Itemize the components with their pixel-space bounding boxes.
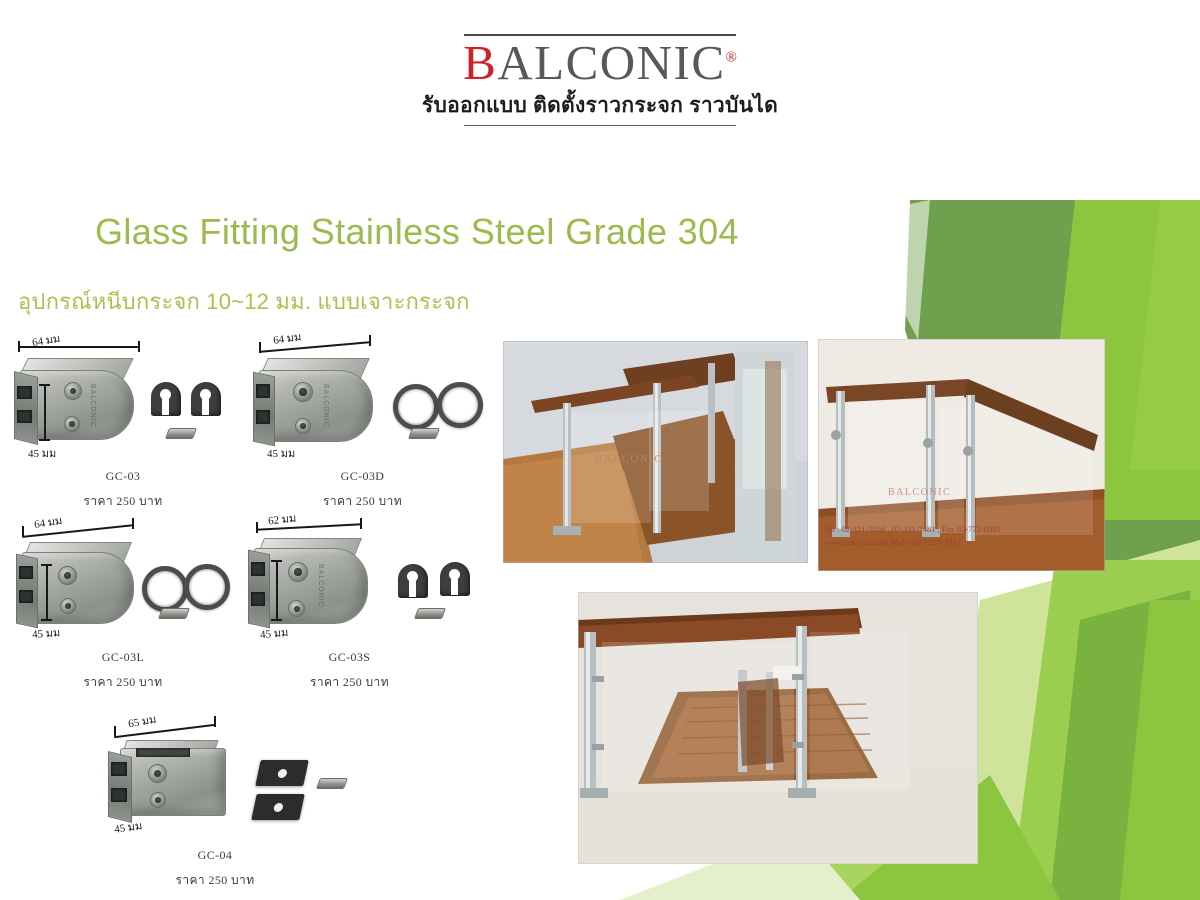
dimension-width-label: 65 มม <box>127 710 158 733</box>
dim-cap-left <box>259 342 261 353</box>
dim-cap-top <box>39 384 50 386</box>
screw-pin <box>158 608 190 619</box>
photo-watermark-2: BALCONIC <box>888 487 951 498</box>
gasket-half-round-1 <box>398 564 428 598</box>
product-card-gc-03l[interactable]: 64 มม 45 มม GC-03L ราคา 250 บาท <box>8 518 238 692</box>
product-price-gc-03l: ราคา 250 บาท <box>8 673 238 692</box>
dim-cap-left <box>22 526 24 537</box>
photo-stairwell-balustrade[interactable] <box>578 592 978 864</box>
gasket-half-round-2 <box>191 382 221 416</box>
clamp-bolt-top <box>58 566 77 585</box>
clamp-bolt-top <box>64 382 82 400</box>
clamp-bolt-bottom <box>64 416 80 432</box>
clamp-slot-top <box>19 566 33 579</box>
dim-cap-right <box>132 518 134 529</box>
photo-stair-glass-railing[interactable]: BALCONIC <box>503 341 808 563</box>
deco-shape-mid-lower <box>1010 560 1200 900</box>
brand-tagline: รับออกแบบ ติดตั้งราวกระจก ราวบันได <box>0 89 1200 122</box>
dimension-width-label: 62 มม <box>267 509 297 530</box>
gasket-ring-2 <box>437 382 483 428</box>
deco-shape-bright-lower <box>1120 600 1200 900</box>
dim-cap-right <box>369 335 371 346</box>
dimension-height-label: 45 มม <box>31 623 60 643</box>
clamp-watermark: BALCONIC <box>317 564 324 608</box>
product-image-gc-03l: 64 มม 45 มม <box>8 518 238 646</box>
product-card-gc-04[interactable]: 65 มม 45 มม GC-04 ราคา 250 บาท <box>90 718 340 890</box>
photo-contact-line-1: Tel : 02-321-5056 , 02-331-7481 , Fax 02… <box>824 524 1001 534</box>
registered-trademark-icon: ® <box>726 50 737 66</box>
clamp-bolt-bottom <box>295 418 311 434</box>
dim-line-height <box>44 384 46 440</box>
dimension-height-label: 45 มม <box>28 444 56 462</box>
brand-header: BALCONIC® รับออกแบบ ติดตั้งราวกระจก ราวบ… <box>0 34 1200 126</box>
clamp-side-face <box>253 372 275 447</box>
clamp-slot-bottom <box>111 788 127 802</box>
slide-title: Glass Fitting Stainless Steel Grade 304 <box>95 211 739 253</box>
clamp-watermark: BALCONIC <box>322 384 329 428</box>
clamp-slot-bottom <box>251 592 265 606</box>
clamp-slot-top <box>111 762 127 776</box>
clamp-slot-bottom <box>256 410 270 424</box>
photo-stairwell-illustration <box>578 592 978 864</box>
brand-wordmark: BALCONIC® <box>463 38 737 88</box>
clamp-bolt-top <box>288 562 308 582</box>
deco-shape-bright-upper <box>1130 200 1200 470</box>
dim-cap-bottom <box>271 619 282 621</box>
clamp-bolt-top <box>148 764 167 783</box>
product-code-gc-03s: GC-03S <box>232 650 467 665</box>
photo-stair-illustration <box>503 341 808 563</box>
clamp-slot-top <box>17 386 32 399</box>
screw-pin <box>408 428 440 439</box>
clamp-front-face <box>22 552 134 624</box>
screw-pin <box>165 428 197 439</box>
clamp-front-face <box>259 370 373 442</box>
dim-cap-right <box>214 716 216 727</box>
product-image-gc-04: 65 มม 45 มม <box>90 718 340 844</box>
dim-cap-bottom <box>41 619 52 621</box>
gasket-ring-1 <box>393 384 439 430</box>
product-card-gc-03s[interactable]: 62 มม BALCONIC 45 มม GC-03S ราคา 250 บาท <box>232 512 467 692</box>
clamp-side-face <box>14 371 38 445</box>
clamp-slot-top <box>256 384 270 398</box>
product-code-gc-04: GC-04 <box>90 848 340 863</box>
gasket-ring-1 <box>142 566 188 612</box>
gasket-ring-2 <box>184 564 230 610</box>
clamp-bolt-bottom <box>150 792 166 808</box>
product-price-gc-03s: ราคา 250 บาท <box>232 673 467 692</box>
clamp-glass-slot <box>136 748 190 757</box>
product-card-gc-03[interactable]: 64 มม BALCONIC 45 มม GC-03 ราคา 250 บาท <box>8 340 238 511</box>
product-price-gc-03: ราคา 250 บาท <box>8 492 238 511</box>
deco-shape-pale-sliver <box>898 200 930 340</box>
screw-pin <box>316 778 348 789</box>
brand-rule-bottom <box>464 125 736 127</box>
product-price-gc-04: ราคา 250 บาท <box>90 871 340 890</box>
dimension-height-label: 45 มม <box>259 623 289 643</box>
clamp-bolt-bottom <box>60 598 76 614</box>
dim-cap-bottom <box>39 439 50 441</box>
clamp-slot-bottom <box>17 410 32 423</box>
photo-glass-railing-corner[interactable]: BALCONIC Tel : 02-321-5056 , 02-331-7481… <box>818 339 1105 571</box>
gasket-rect-2 <box>251 794 305 820</box>
clamp-bolt-bottom <box>288 600 305 617</box>
product-code-gc-03: GC-03 <box>8 469 238 484</box>
gasket-half-round-1 <box>151 382 181 416</box>
dim-cap-top <box>271 560 282 562</box>
clamp-front-face <box>120 748 226 816</box>
dim-cap-left <box>256 522 258 533</box>
deco-shape-dark-lower <box>1050 590 1200 900</box>
dimension-width-label: 64 มม <box>272 327 302 349</box>
slide-subtitle: อุปกรณ์หนีบกระจก 10~12 มม. แบบเจาะกระจก <box>18 284 470 319</box>
dim-line-height <box>276 560 278 620</box>
clamp-bolt-top <box>293 382 313 402</box>
product-code-gc-03l: GC-03L <box>8 650 238 665</box>
dim-cap-left <box>114 726 116 737</box>
product-card-gc-03d[interactable]: 64 มม BALCONIC 45 มม GC-03D ราคา 250 บาท <box>245 336 480 511</box>
dimension-height-label: 45 มม <box>113 816 143 838</box>
product-code-gc-03d: GC-03D <box>245 469 480 484</box>
dimension-width-label: 64 มม <box>33 511 64 533</box>
dim-cap-right <box>360 518 362 529</box>
brand-name-rest: ALCONIC <box>497 35 725 90</box>
dimension-height-label: 45 มม <box>267 444 295 462</box>
screw-pin <box>414 608 446 619</box>
dim-cap-right <box>138 341 140 352</box>
dim-cap-left <box>18 341 20 352</box>
clamp-watermark: BALCONIC <box>89 384 96 428</box>
dim-cap-top <box>41 564 52 566</box>
gasket-half-round-2 <box>440 562 470 596</box>
gasket-rect-1 <box>255 760 309 786</box>
dim-line-height <box>46 564 48 620</box>
product-price-gc-03d: ราคา 250 บาท <box>245 492 480 511</box>
brand-letter-b: B <box>463 35 497 90</box>
product-image-gc-03d: 64 มม BALCONIC 45 มม <box>245 336 480 465</box>
clamp-slot-bottom <box>19 590 33 603</box>
photo-contact-line-2: www.balconic.com Mob : 087-553-7317 <box>824 537 961 547</box>
product-image-gc-03: 64 มม BALCONIC 45 มม <box>8 340 238 465</box>
photo-watermark-1: BALCONIC <box>595 453 663 465</box>
product-image-gc-03s: 62 มม BALCONIC 45 มม <box>232 512 467 646</box>
clamp-slot-top <box>251 562 265 576</box>
